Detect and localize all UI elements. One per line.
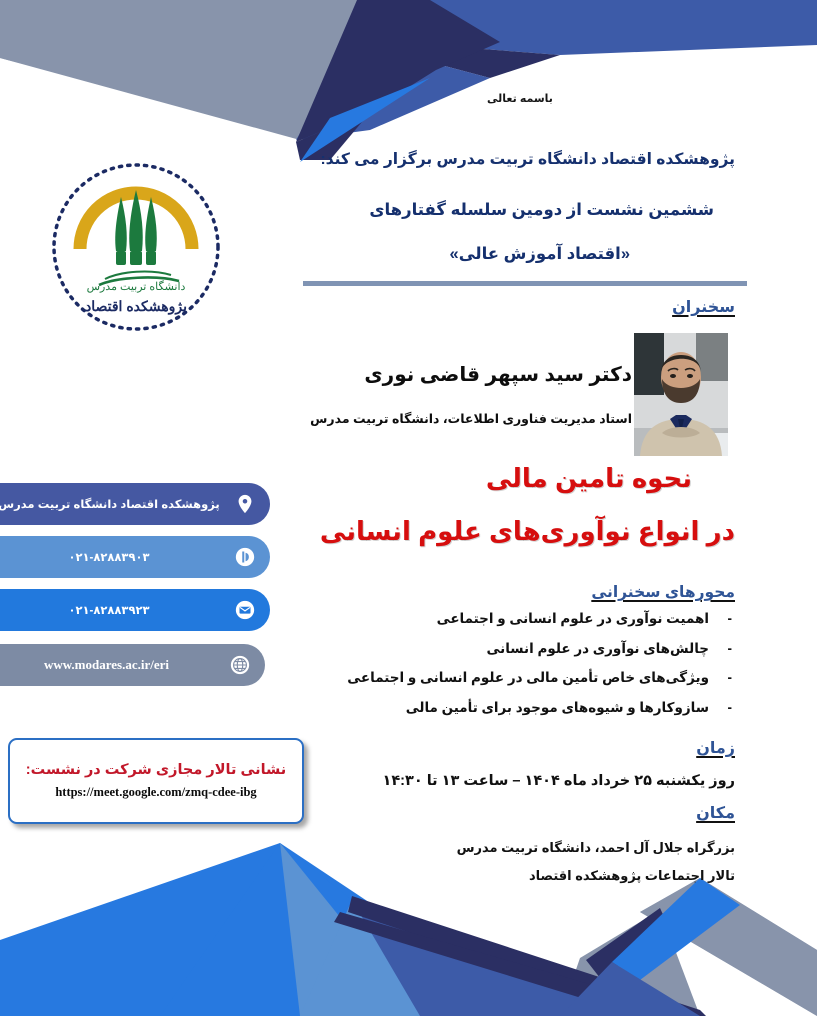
speaker-photo <box>634 333 728 456</box>
place-section-heading: مکان <box>696 803 735 823</box>
contact-address-text: پژوهشکده اقتصاد دانشگاه تربیت مدرس <box>0 497 222 511</box>
speaker-name: دکتر سید سپهر قاضی نوری <box>364 362 632 387</box>
contact-website-text: www.modares.ac.ir/eri <box>0 657 217 673</box>
envelope-icon <box>228 593 262 627</box>
talk-title-line-1: نحوه تامین مالی <box>486 463 692 494</box>
event-datetime: روز یکشنبه ۲۵ خرداد ماه ۱۴۰۴ – ساعت ۱۳ ت… <box>382 773 735 789</box>
meeting-box-title: نشانی تالار مجازی شرکت در نشست: <box>26 762 286 778</box>
list-item: ویژگی‌های خاص تأمین مالی در علوم انسانی … <box>315 671 735 685</box>
list-item: چالش‌های نوآوری در علوم انسانی <box>315 642 735 656</box>
contact-fax-bar: ۰۲۱-۸۲۸۸۳۹۲۳ <box>0 589 270 631</box>
speaker-section-heading: سخنران <box>672 297 735 317</box>
contact-website-bar[interactable]: www.modares.ac.ir/eri <box>0 644 265 686</box>
time-section-heading: زمان <box>696 738 735 758</box>
virtual-meeting-box: نشانی تالار مجازی شرکت در نشست: https://… <box>8 738 304 824</box>
contact-fax-text: ۰۲۱-۸۲۸۸۳۹۲۳ <box>0 603 222 617</box>
topics-section-heading: محورهای سخنرانی <box>591 583 735 602</box>
meeting-url-link[interactable]: https://meet.google.com/zmq-cdee-ibg <box>55 785 256 800</box>
portrait-graphic <box>634 333 728 456</box>
poster-canvas: دانشگاه تربیت مدرس پژوهشکده اقتصاد باسمه… <box>0 0 817 1016</box>
list-item: سازوکارها و شیوه‌های موجود برای تأمین ما… <box>315 701 735 715</box>
list-item: اهمیت نوآوری در علوم انسانی و اجتماعی <box>315 612 735 626</box>
section-divider <box>303 281 747 286</box>
phone-icon <box>228 540 262 574</box>
globe-icon <box>223 648 257 682</box>
basmale-text: باسمه تعالی <box>290 92 750 105</box>
talk-title-line-2: در انواع نوآوری‌های علوم انسانی <box>320 516 735 547</box>
venue-hall: تالار اجتماعات پژوهشکده اقتصاد <box>529 868 735 884</box>
speaker-title: استاد مدیریت فناوری اطلاعات، دانشگاه ترب… <box>310 411 632 426</box>
institute-logo: دانشگاه تربیت مدرس پژوهشکده اقتصاد <box>47 157 225 337</box>
content-column: باسمه تعالی پژوهشکده اقتصاد دانشگاه تربی… <box>290 0 817 1016</box>
location-pin-icon <box>228 487 262 521</box>
header-line-3: «اقتصاد آموزش عالی» <box>450 244 630 264</box>
logo-graphic: دانشگاه تربیت مدرس پژوهشکده اقتصاد <box>47 157 225 337</box>
logo-university-text: دانشگاه تربیت مدرس <box>87 280 186 293</box>
contact-phone-bar: ۰۲۱-۸۲۸۸۳۹۰۳ <box>0 536 270 578</box>
topics-list: اهمیت نوآوری در علوم انسانی و اجتماعی چا… <box>315 612 735 730</box>
logo-institute-text: پژوهشکده اقتصاد <box>85 298 187 315</box>
header-line-2: ششمین نشست از دومین سلسله گفتارهای <box>369 200 714 220</box>
contact-address-bar: پژوهشکده اقتصاد دانشگاه تربیت مدرس <box>0 483 270 525</box>
header-line-1: پژوهشکده اقتصاد دانشگاه تربیت مدرس برگزا… <box>320 150 735 169</box>
contact-phone-text: ۰۲۱-۸۲۸۸۳۹۰۳ <box>0 550 222 564</box>
venue-address: بزرگراه جلال آل احمد، دانشگاه تربیت مدرس <box>457 840 735 856</box>
